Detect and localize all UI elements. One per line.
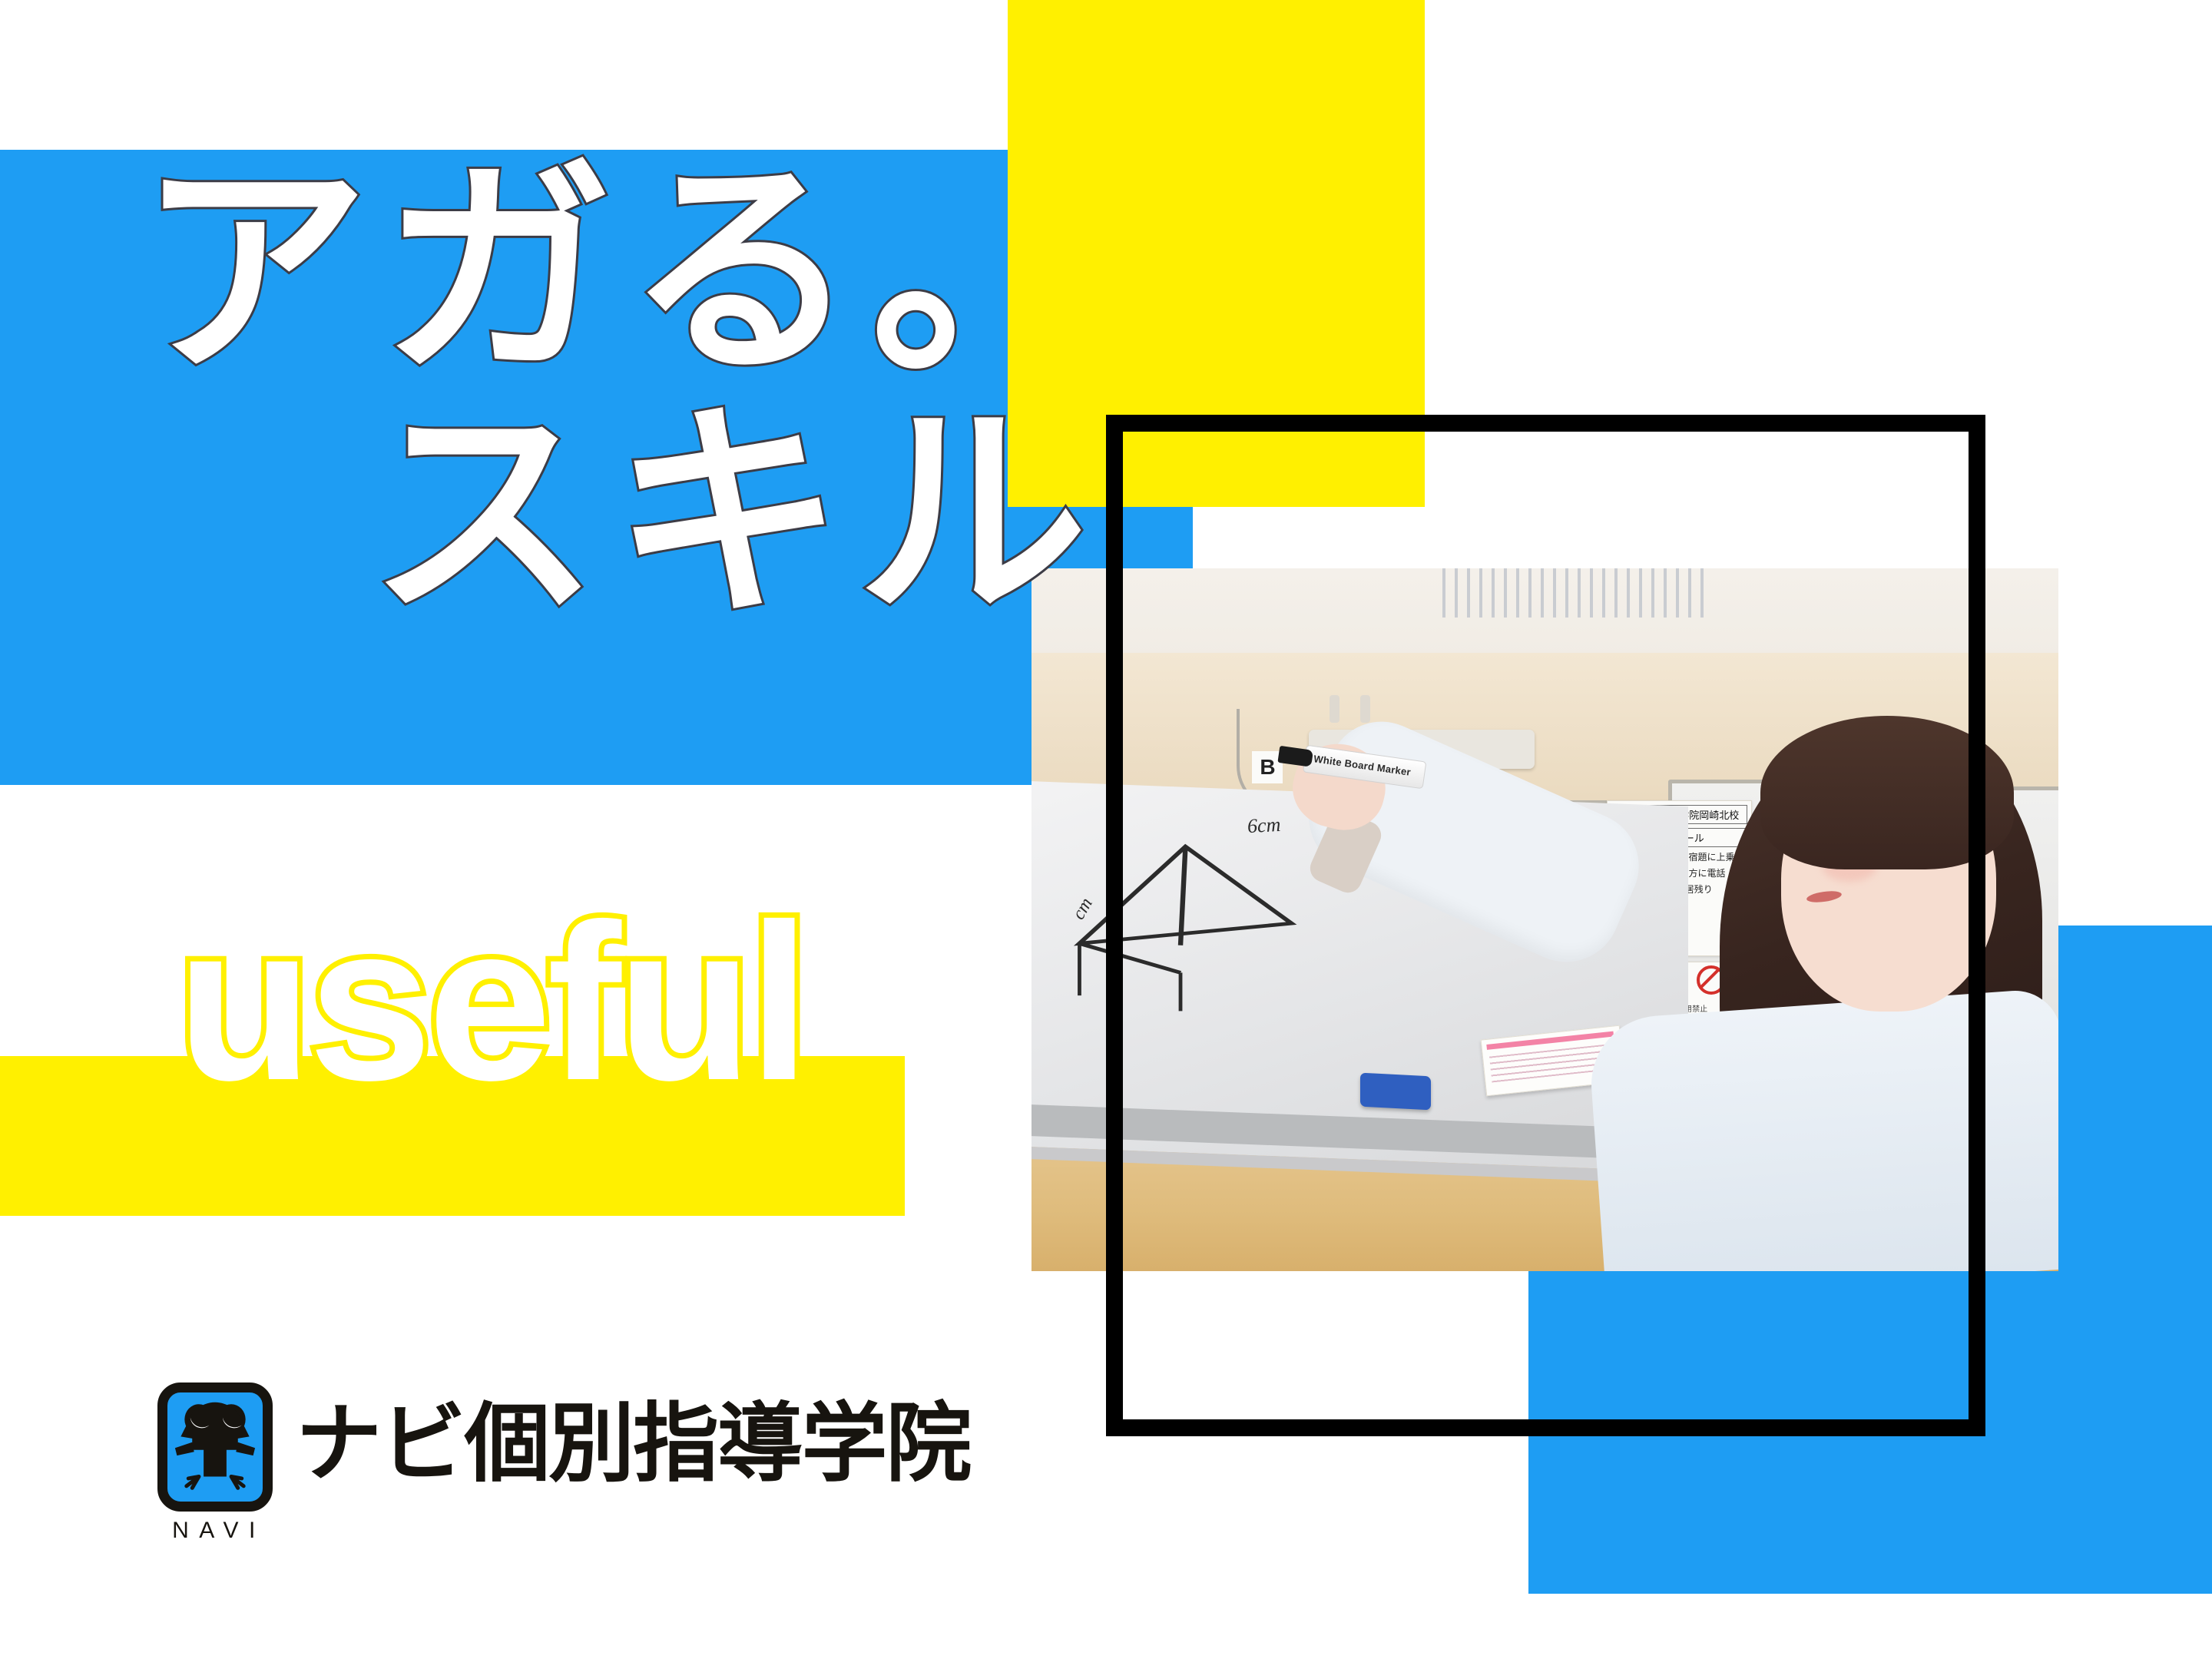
useful-wordmark: useful	[177, 891, 945, 1114]
photo-teacher-bangs	[1760, 716, 2014, 869]
blue-right-block	[2052, 926, 2212, 1594]
brand-name: ナビ個別指導学院	[296, 1401, 970, 1487]
banner-canvas: B 学生の皆さんへ の成績アップ戦略は 3回くり返し」！ ナビ個別指導学院岡崎北…	[0, 0, 2212, 1659]
headline-line-1: アガる。	[138, 154, 1060, 389]
useful-text: useful	[177, 891, 945, 1114]
photo-plug-left	[1330, 695, 1339, 723]
photo-teacher-coat	[1587, 988, 2058, 1271]
navi-mark: NAVI	[157, 1382, 273, 1544]
navi-mark-label: NAVI	[157, 1518, 273, 1544]
navi-badge-icon	[157, 1382, 273, 1512]
brand-logo: NAVI ナビ個別指導学院	[157, 1382, 970, 1544]
photo-label-6cm: 6cm	[1247, 813, 1281, 838]
photo-hangers	[1442, 568, 1710, 618]
headline-line-2: スキル	[369, 396, 1060, 631]
headline: アガる。 スキル	[138, 154, 1060, 631]
photo-plug-right	[1360, 695, 1370, 723]
classroom-photo: B 学生の皆さんへ の成績アップ戦略は 3回くり返し」！ ナビ個別指導学院岡崎北…	[1031, 568, 2058, 1271]
photo-pyramid-diagram	[1062, 836, 1309, 1018]
photo-board-eraser	[1360, 1072, 1431, 1110]
